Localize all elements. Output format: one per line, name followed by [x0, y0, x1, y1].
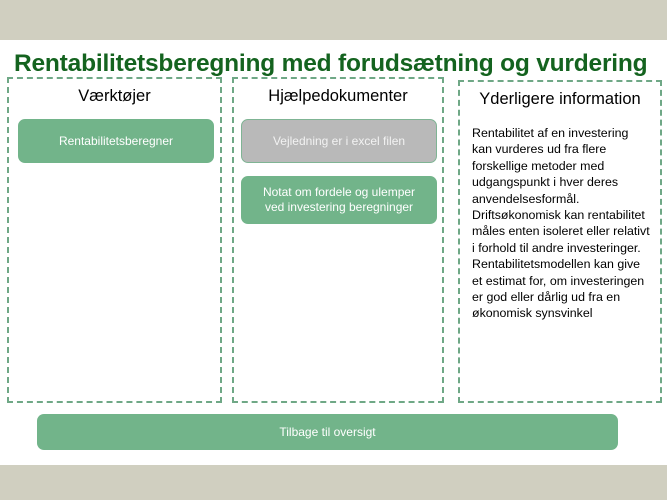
panel-tools-heading: Værktøjer — [9, 87, 220, 106]
slide-canvas: Rentabilitetsberegning med forudsætning … — [0, 40, 667, 465]
back-to-overview-button[interactable]: Tilbage til oversigt — [37, 414, 618, 450]
rentabilitetsberegner-button[interactable]: Rentabilitetsberegner — [18, 119, 214, 163]
information-body-text: Rentabilitet af en investering kan vurde… — [472, 125, 650, 322]
page-title: Rentabilitetsberegning med forudsætning … — [14, 50, 654, 78]
panel-documents-heading: Hjælpedokumenter — [234, 87, 442, 106]
panel-tools: Værktøjer Rentabilitetsberegner — [7, 77, 222, 403]
panel-information: Yderligere information Rentabilitet af e… — [458, 80, 662, 403]
vejledning-excel-button[interactable]: Vejledning er i excel filen — [241, 119, 437, 163]
panel-documents: Hjælpedokumenter Vejledning er i excel f… — [232, 77, 444, 403]
notat-fordele-ulemper-button[interactable]: Notat om fordele og ulemper ved invester… — [241, 176, 437, 224]
panel-information-heading: Yderligere information — [460, 90, 660, 109]
